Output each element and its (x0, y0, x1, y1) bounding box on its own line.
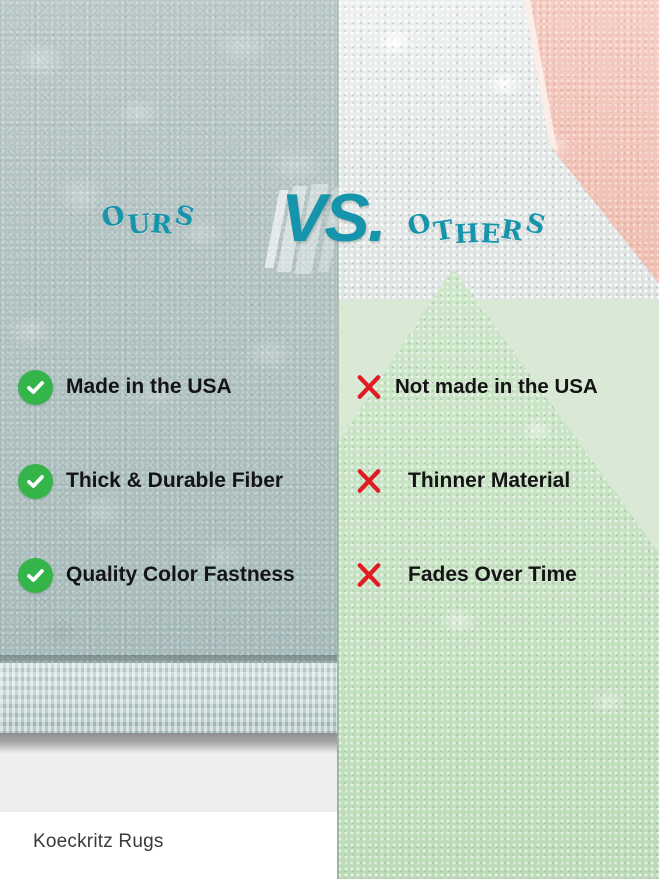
headline-band: OURS VS. OTHERS (0, 170, 659, 280)
rug-drop-shadow (0, 733, 337, 753)
feature-row: Made in the USA (0, 340, 337, 434)
feature-row: Not made in the USA (337, 340, 659, 434)
x-mark-icon (351, 464, 386, 499)
feature-row: Fades Over Time (337, 528, 659, 622)
product-comparison-image: OURS VS. OTHERS Made in the USA Thick & … (0, 0, 659, 879)
check-circle-icon (18, 558, 53, 593)
headline-others: OTHERS (408, 210, 547, 240)
feature-row: Thick & Durable Fiber (0, 434, 337, 528)
feature-row: Quality Color Fastness (0, 528, 337, 622)
feature-label: Thick & Durable Fiber (66, 469, 283, 493)
headline-vs: VS. (281, 184, 385, 252)
x-mark-icon (351, 370, 386, 405)
headline-ours: OURS (102, 202, 196, 232)
feature-label: Made in the USA (66, 375, 232, 399)
rug-binding-edge (0, 663, 337, 735)
ours-feature-list: Made in the USA Thick & Durable Fiber Qu… (0, 340, 337, 622)
bottom-grey-strip (0, 753, 337, 812)
feature-label: Fades Over Time (408, 563, 577, 587)
feature-row: Thinner Material (337, 434, 659, 528)
check-circle-icon (18, 370, 53, 405)
others-feature-list: Not made in the USA Thinner Material Fad… (337, 340, 659, 622)
seller-caption: Koeckritz Rugs (33, 831, 164, 853)
check-circle-icon (18, 464, 53, 499)
feature-label: Not made in the USA (395, 375, 598, 399)
feature-label: Thinner Material (408, 469, 570, 493)
x-mark-icon (351, 558, 386, 593)
feature-label: Quality Color Fastness (66, 563, 295, 587)
